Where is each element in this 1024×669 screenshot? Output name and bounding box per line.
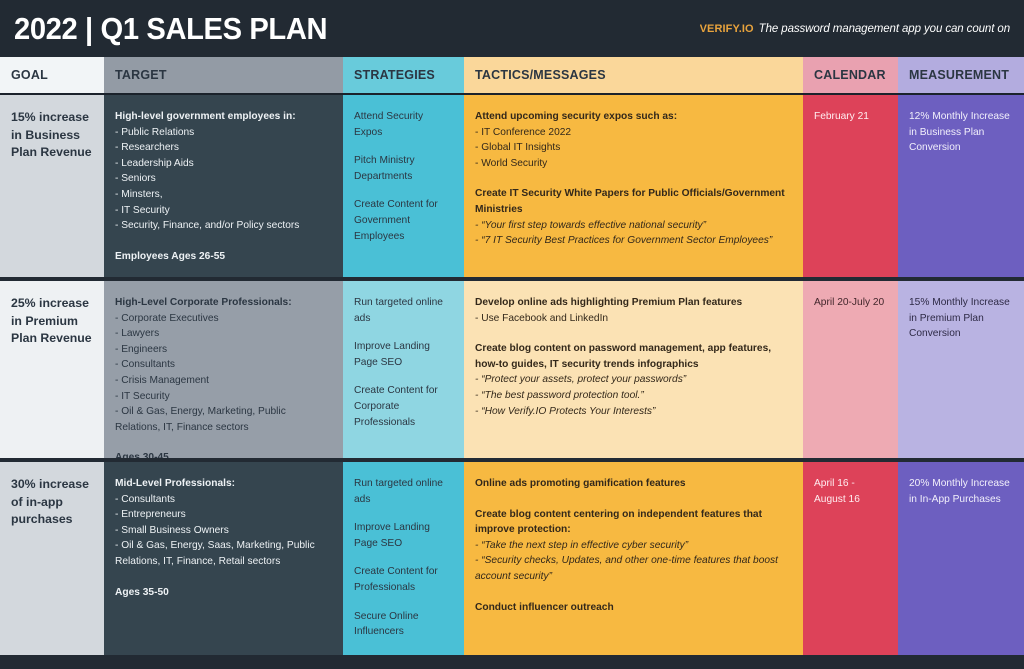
footer-strip (0, 655, 1024, 669)
cell-calendar: April 16 - August 16 (803, 462, 898, 655)
brand-tagline: The password management app you can coun… (759, 23, 1010, 35)
table-row: 25% increase in Premium Plan Revenue Hig… (0, 281, 1024, 458)
tactic-head: Create IT Security White Papers for Publ… (475, 186, 791, 217)
tactic-block: Online ads promoting gamification featur… (475, 476, 791, 492)
strategy-item: Create Content for Corporate Professiona… (354, 383, 452, 430)
tactic-line: - “How Verify.IO Protects Your Interests… (475, 404, 791, 420)
cell-calendar: April 20-July 20 (803, 281, 898, 458)
cell-measurement: 15% Monthly Increase in Premium Plan Con… (898, 281, 1024, 458)
plan-table: GOAL TARGET STRATEGIES TACTICS/MESSAGES … (0, 57, 1024, 669)
tactic-line: - Global IT Insights (475, 140, 791, 156)
target-bullet: - IT Security (115, 203, 331, 219)
goal-text: 25% increase in Premium Plan Revenue (11, 296, 92, 345)
tactic-head: Attend upcoming security expos such as: (475, 109, 791, 125)
cell-goal: 30% increase of in-app purchases (0, 462, 104, 655)
cell-calendar: February 21 (803, 95, 898, 277)
cell-strategies: Run targeted online ads Improve Landing … (343, 462, 464, 655)
target-bullet: - IT Security (115, 389, 331, 405)
tactic-line: - “Take the next step in effective cyber… (475, 538, 791, 554)
tactic-block: Create IT Security White Papers for Publ… (475, 186, 791, 248)
strategy-item: Attend Security Expos (354, 109, 452, 140)
tactic-line: - “Security checks, Updates, and other o… (475, 553, 791, 584)
goal-text: 30% increase of in-app purchases (11, 477, 89, 526)
target-bullet: - Oil & Gas, Energy, Saas, Marketing, Pu… (115, 538, 331, 569)
table-header-row: GOAL TARGET STRATEGIES TACTICS/MESSAGES … (0, 57, 1024, 95)
tactic-block: Create blog content on password manageme… (475, 341, 791, 419)
strategy-item: Create Content for Professionals (354, 564, 452, 595)
target-bullet: - Minsters, (115, 187, 331, 203)
tactic-head: Create blog content centering on indepen… (475, 507, 791, 538)
strategy-item: Run targeted online ads (354, 295, 452, 326)
tactic-line: - World Security (475, 156, 791, 172)
strategy-item: Pitch Ministry Departments (354, 153, 452, 184)
strategy-item: Improve Landing Page SEO (354, 339, 452, 370)
target-bullet: - Oil & Gas, Energy, Marketing, Public R… (115, 404, 331, 435)
column-header-target: TARGET (104, 57, 343, 95)
tactic-line: - “7 IT Security Best Practices for Gove… (475, 233, 791, 249)
tactic-line: - “Your first step towards effective nat… (475, 218, 791, 234)
target-bullet: - Engineers (115, 342, 331, 358)
tactic-block: Attend upcoming security expos such as: … (475, 109, 791, 171)
target-bullet: - Researchers (115, 140, 331, 156)
strategy-item: Run targeted online ads (354, 476, 452, 507)
column-header-measurement: MEASUREMENT (898, 57, 1024, 95)
target-lead: High-level government employees in: (115, 109, 331, 125)
calendar-text: April 16 - August 16 (814, 476, 886, 507)
tactic-block: Create blog content centering on indepen… (475, 507, 791, 585)
column-header-goal: GOAL (0, 57, 104, 95)
target-bullet: - Consultants (115, 357, 331, 373)
strategy-item: Secure Online Influencers (354, 609, 452, 640)
target-bullet: - Leadership Aids (115, 156, 331, 172)
target-lead: Mid-Level Professionals: (115, 476, 331, 492)
cell-measurement: 20% Monthly Increase in In-App Purchases (898, 462, 1024, 655)
target-lead: High-Level Corporate Professionals: (115, 295, 331, 311)
cell-measurement: 12% Monthly Increase in Business Plan Co… (898, 95, 1024, 277)
target-bullet: - Entrepreneurs (115, 507, 331, 523)
measurement-text: 15% Monthly Increase in Premium Plan Con… (909, 295, 1012, 342)
cell-goal: 25% increase in Premium Plan Revenue (0, 281, 104, 458)
measurement-text: 20% Monthly Increase in In-App Purchases (909, 476, 1012, 507)
strategy-item: Create Content for Government Employees (354, 197, 452, 244)
target-bullet: - Crisis Management (115, 373, 331, 389)
poster-header: 2022 | Q1 SALES PLAN VERIFY.IO The passw… (0, 0, 1024, 57)
brand-bar: VERIFY.IO The password management app yo… (700, 23, 1010, 35)
tactic-head: Conduct influencer outreach (475, 600, 791, 616)
tactic-head: Online ads promoting gamification featur… (475, 476, 791, 492)
calendar-text: April 20-July 20 (814, 295, 886, 311)
column-header-calendar: CALENDAR (803, 57, 898, 95)
table-row: 15% increase in Business Plan Revenue Hi… (0, 95, 1024, 277)
tactic-line: - “The best password protection tool.” (475, 388, 791, 404)
cell-tactics: Online ads promoting gamification featur… (464, 462, 803, 655)
brand-name: VERIFY.IO (700, 23, 754, 35)
target-bullet: - Public Relations (115, 125, 331, 141)
target-bullet: - Small Business Owners (115, 523, 331, 539)
tactic-line: - “Protect your assets, protect your pas… (475, 372, 791, 388)
tactic-line: - IT Conference 2022 (475, 125, 791, 141)
target-bullet: - Seniors (115, 171, 331, 187)
column-header-strategies: STRATEGIES (343, 57, 464, 95)
measurement-text: 12% Monthly Increase in Business Plan Co… (909, 109, 1012, 156)
cell-tactics: Develop online ads highlighting Premium … (464, 281, 803, 458)
tactic-head: Develop online ads highlighting Premium … (475, 295, 791, 311)
cell-target: Mid-Level Professionals: - Consultants -… (104, 462, 343, 655)
cell-target: High-Level Corporate Professionals: - Co… (104, 281, 343, 458)
target-bullet: - Consultants (115, 492, 331, 508)
column-header-tactics: TACTICS/MESSAGES (464, 57, 803, 95)
tactic-block: Develop online ads highlighting Premium … (475, 295, 791, 326)
calendar-text: February 21 (814, 109, 886, 125)
table-row: 30% increase of in-app purchases Mid-Lev… (0, 462, 1024, 655)
tactic-head: Create blog content on password manageme… (475, 341, 791, 372)
cell-goal: 15% increase in Business Plan Revenue (0, 95, 104, 277)
cell-tactics: Attend upcoming security expos such as: … (464, 95, 803, 277)
strategy-item: Improve Landing Page SEO (354, 520, 452, 551)
target-age-note: Ages 35-50 (115, 585, 331, 601)
tactic-block: Conduct influencer outreach (475, 600, 791, 616)
target-bullet: - Security, Finance, and/or Policy secto… (115, 218, 331, 234)
target-bullet: - Lawyers (115, 326, 331, 342)
goal-text: 15% increase in Business Plan Revenue (11, 110, 92, 159)
page-title: 2022 | Q1 SALES PLAN (14, 11, 327, 47)
target-bullet: - Corporate Executives (115, 311, 331, 327)
sales-plan-poster: 2022 | Q1 SALES PLAN VERIFY.IO The passw… (0, 0, 1024, 668)
cell-target: High-level government employees in: - Pu… (104, 95, 343, 277)
tactic-line: - Use Facebook and LinkedIn (475, 311, 791, 327)
cell-strategies: Run targeted online ads Improve Landing … (343, 281, 464, 458)
target-age-note: Employees Ages 26-55 (115, 249, 331, 265)
cell-strategies: Attend Security Expos Pitch Ministry Dep… (343, 95, 464, 277)
target-age-note: Ages 30-45 (115, 450, 331, 458)
